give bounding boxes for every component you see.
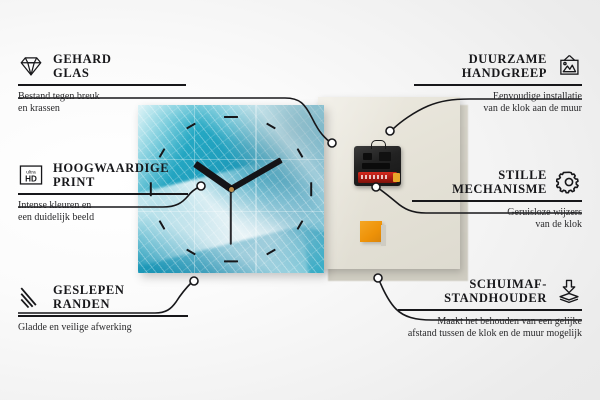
foam-spacer-pad xyxy=(360,221,382,242)
callout-title: GEHARD GLAS xyxy=(53,52,111,80)
callout-title: SCHUIMAF- STANDHOUDER xyxy=(444,277,547,305)
quartz-movement xyxy=(354,146,401,186)
second-hand xyxy=(230,189,232,245)
callout-divider xyxy=(18,84,186,86)
battery xyxy=(358,172,397,183)
callout-title: STILLE MECHANISME xyxy=(452,168,547,196)
movement-knob-secondary xyxy=(379,152,391,161)
callout-description: Intense kleuren en een duidelijk beeld xyxy=(18,200,188,224)
hanger-loop-icon xyxy=(371,140,386,149)
callout-description: Maakt het behouden van een gelijke afsta… xyxy=(398,316,582,340)
picture-frame-icon xyxy=(556,53,582,79)
callout-description: Eenvoudige installatie van de klok aan d… xyxy=(414,91,582,115)
callout-description: Geruisloze wijzers van de klok xyxy=(412,207,582,231)
clock-center-pin xyxy=(229,187,234,192)
callout-title: DUURZAME HANDGREEP xyxy=(462,52,547,80)
diamond-icon xyxy=(18,53,44,79)
callout-divider xyxy=(18,315,188,317)
movement-slot xyxy=(362,163,390,169)
infographic-canvas: GEHARD GLAS Bestand tegen breuk en krass… xyxy=(0,0,600,400)
movement-knob xyxy=(363,153,372,160)
callout-description: Gladde en veilige afwerking xyxy=(18,322,188,334)
ultra-hd-icon: ultra HD xyxy=(18,162,44,188)
callout-title: HOOGWAARDIGE PRINT xyxy=(53,161,169,189)
callout-divider xyxy=(412,200,582,202)
callout-divider xyxy=(414,84,582,86)
callout-divider xyxy=(398,309,582,311)
hour-marker xyxy=(310,182,312,196)
battery-plus-terminal xyxy=(393,173,400,182)
callout-hoogwaardige-print: ultra HD HOOGWAARDIGE PRINT Intense kleu… xyxy=(18,161,188,224)
gear-icon xyxy=(556,169,582,195)
callout-stille-mechanisme: STILLE MECHANISME Geruisloze wijzers van… xyxy=(412,168,582,231)
callout-description: Bestand tegen breuk en krassen xyxy=(18,91,186,115)
callout-duurzame-handgreep: DUURZAME HANDGREEP Eenvoudige installati… xyxy=(414,52,582,115)
hour-marker xyxy=(224,260,238,262)
svg-text:HD: HD xyxy=(25,175,37,184)
callout-schuimaf-standhouder: SCHUIMAF- STANDHOUDER Maakt het behouden… xyxy=(398,277,582,340)
callout-divider xyxy=(18,193,188,195)
callout-title: GESLEPEN RANDEN xyxy=(53,283,125,311)
bevelled-edges-icon xyxy=(18,284,44,310)
press-pad-icon xyxy=(556,278,582,304)
callout-geslepen-randen: GESLEPEN RANDEN Gladde en veilige afwerk… xyxy=(18,283,188,334)
battery-label xyxy=(361,175,389,179)
callout-gehard-glas: GEHARD GLAS Bestand tegen breuk en krass… xyxy=(18,52,186,115)
